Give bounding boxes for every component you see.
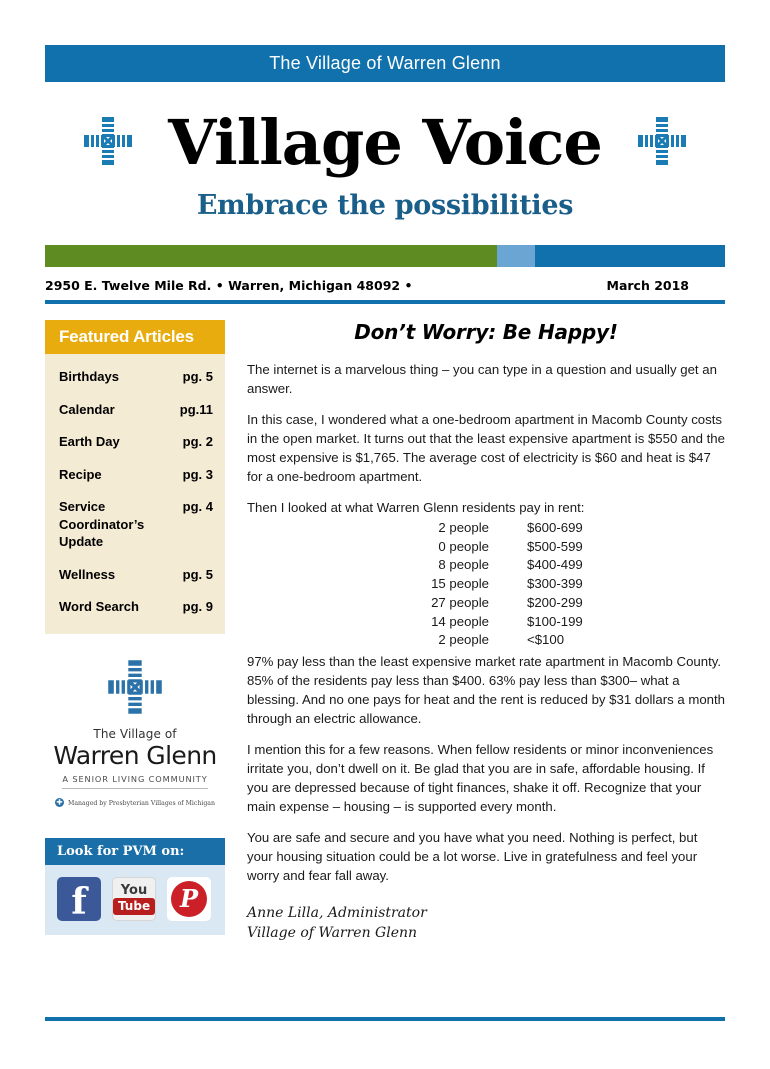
community-logo-line2: Warren Glenn	[51, 742, 219, 770]
list-item[interactable]: Birthdays pg. 5	[59, 368, 213, 386]
table-row: 8 people $400-499	[387, 556, 725, 575]
article-paragraph: You are safe and secure and you have wha…	[247, 828, 725, 885]
list-item[interactable]: Recipe pg. 3	[59, 466, 213, 484]
featured-item-label: Service Coordinator’s Update	[59, 498, 183, 551]
managed-by-text: Managed by Presbyterian Villages of Mich…	[68, 800, 215, 807]
band-segment-blue	[535, 245, 725, 267]
village-cross-logo-left-icon	[82, 115, 134, 172]
featured-articles-list: Birthdays pg. 5 Calendar pg.11 Earth Day…	[45, 354, 225, 616]
list-item[interactable]: Wellness pg. 5	[59, 566, 213, 584]
table-row: 14 people $100-199	[387, 613, 725, 632]
featured-item-label: Birthdays	[59, 368, 125, 386]
community-logo-block: The Village of Warren Glenn A SENIOR LIV…	[45, 658, 225, 813]
rent-range: <$100	[489, 631, 599, 650]
rent-people-count: 0 people	[387, 538, 489, 557]
youtube-icon-bottom: Tube	[113, 898, 155, 915]
pinterest-icon-glyph: P	[171, 881, 207, 917]
featured-item-page: pg. 5	[183, 368, 213, 386]
table-row: 27 people $200-299	[387, 594, 725, 613]
article-paragraph: 97% pay less than the least expensive ma…	[247, 652, 725, 728]
main-content: Featured Articles Birthdays pg. 5 Calend…	[45, 320, 725, 944]
village-cross-logo-right-icon	[636, 115, 688, 172]
community-logo-line3: A SENIOR LIVING COMMUNITY	[62, 774, 207, 789]
featured-item-label: Wellness	[59, 566, 121, 584]
facebook-icon[interactable]: f	[57, 877, 101, 921]
signature-organization: Village of Warren Glenn	[247, 923, 725, 943]
masthead: Village Voice	[45, 100, 725, 186]
featured-item-page: pg. 2	[183, 433, 213, 451]
featured-item-label: Recipe	[59, 466, 108, 484]
pvm-badge-icon	[55, 794, 64, 812]
featured-item-page: pg. 5	[183, 566, 213, 584]
signature-name: Anne Lilla, Administrator	[247, 903, 725, 923]
featured-item-page: pg.11	[180, 401, 213, 419]
list-item[interactable]: Calendar pg.11	[59, 401, 213, 419]
featured-item-page: pg. 9	[183, 598, 213, 616]
rent-range: $100-199	[489, 613, 599, 632]
featured-item-page: pg. 4	[183, 498, 213, 516]
featured-item-label: Word Search	[59, 598, 145, 616]
rent-people-count: 14 people	[387, 613, 489, 632]
newsletter-tagline: Embrace the possibilities	[45, 190, 725, 221]
band-segment-green	[45, 245, 497, 267]
social-block-title: Look for PVM on:	[45, 838, 225, 865]
rent-range: $500-599	[489, 538, 599, 557]
community-logo-line1: The Village of	[51, 727, 219, 741]
article-paragraph: In this case, I wondered what a one-bedr…	[247, 410, 725, 486]
rent-range: $200-299	[489, 594, 599, 613]
featured-articles-title: Featured Articles	[45, 320, 225, 354]
rent-range: $300-399	[489, 575, 599, 594]
rent-people-count: 2 people	[387, 631, 489, 650]
rent-people-count: 15 people	[387, 575, 489, 594]
social-block: Look for PVM on: f You Tube P	[45, 838, 225, 935]
address-row: 2950 E. Twelve Mile Rd. • Warren, Michig…	[45, 267, 725, 300]
table-row: 0 people $500-599	[387, 538, 725, 557]
pinterest-icon[interactable]: P	[167, 877, 211, 921]
village-cross-logo-icon	[106, 703, 164, 720]
newsletter-page: The Village of Warren Glenn Village Voic…	[0, 45, 770, 1069]
youtube-icon[interactable]: You Tube	[112, 877, 156, 921]
featured-item-page: pg. 3	[183, 466, 213, 484]
list-item[interactable]: Service Coordinator’s Update pg. 4	[59, 498, 213, 551]
article-column: Don’t Worry: Be Happy! The internet is a…	[247, 320, 725, 944]
social-icons-row: f You Tube P	[45, 865, 225, 935]
table-row: 15 people $300-399	[387, 575, 725, 594]
color-band	[45, 245, 725, 267]
article-signature: Anne Lilla, Administrator Village of War…	[247, 903, 725, 944]
table-row: 2 people <$100	[387, 631, 725, 650]
organization-name: The Village of Warren Glenn	[269, 53, 501, 74]
rent-people-count: 27 people	[387, 594, 489, 613]
list-item[interactable]: Word Search pg. 9	[59, 598, 213, 616]
rent-table-intro: Then I looked at what Warren Glenn resid…	[247, 498, 725, 517]
list-item[interactable]: Earth Day pg. 2	[59, 433, 213, 451]
managed-by-row: Managed by Presbyterian Villages of Mich…	[51, 794, 219, 812]
table-row: 2 people $600-699	[387, 519, 725, 538]
rent-range: $400-499	[489, 556, 599, 575]
rent-distribution-table: 2 people $600-699 0 people $500-599 8 pe…	[247, 519, 725, 650]
featured-articles-box: Featured Articles Birthdays pg. 5 Calend…	[45, 320, 225, 634]
newsletter-title: Village Voice	[168, 112, 602, 174]
footer-divider-rule	[45, 1017, 725, 1021]
featured-item-label: Earth Day	[59, 433, 126, 451]
article-paragraph: The internet is a marvelous thing – you …	[247, 360, 725, 398]
featured-item-label: Calendar	[59, 401, 121, 419]
sidebar: Featured Articles Birthdays pg. 5 Calend…	[45, 320, 225, 944]
rent-range: $600-699	[489, 519, 599, 538]
rent-people-count: 2 people	[387, 519, 489, 538]
header-divider-rule	[45, 300, 725, 304]
band-segment-light-blue	[497, 245, 535, 267]
article-title: Don’t Worry: Be Happy!	[247, 320, 725, 344]
mailing-address: 2950 E. Twelve Mile Rd. • Warren, Michig…	[45, 278, 412, 293]
issue-date: March 2018	[607, 278, 726, 293]
organization-header-bar: The Village of Warren Glenn	[45, 45, 725, 82]
youtube-icon-top: You	[121, 884, 147, 897]
rent-people-count: 8 people	[387, 556, 489, 575]
article-paragraph: I mention this for a few reasons. When f…	[247, 740, 725, 816]
